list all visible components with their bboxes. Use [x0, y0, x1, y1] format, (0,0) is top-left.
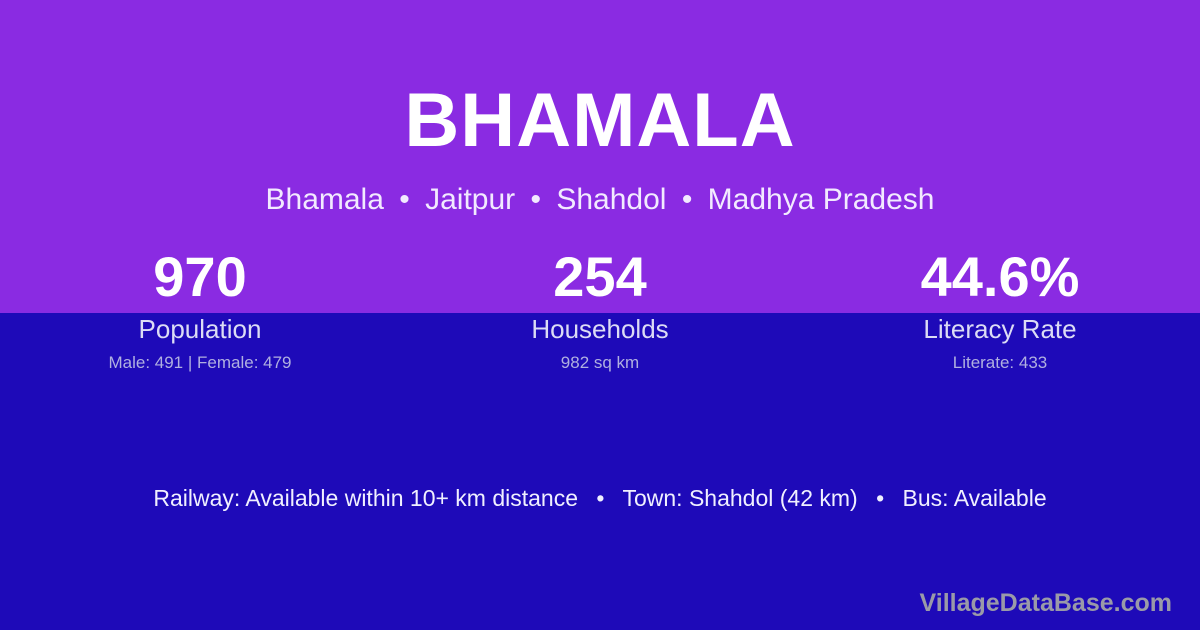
stat-sublabel: Male: 491 | Female: 479 [0, 354, 400, 373]
stats-row: 970 Population Male: 491 | Female: 479 2… [0, 248, 1200, 373]
breadcrumb-separator: • [392, 183, 417, 216]
breadcrumb: Bhamala • Jaitpur • Shahdol • Madhya Pra… [0, 182, 1200, 218]
page-title: BHAMALA [0, 83, 1200, 159]
site-watermark: VillageDataBase.com [920, 588, 1172, 618]
breadcrumb-district: Shahdol [556, 183, 666, 216]
breadcrumb-separator: • [524, 183, 549, 216]
connectivity-town: Town: Shahdol (42 km) [622, 485, 857, 511]
stat-sublabel: Literate: 433 [800, 354, 1200, 373]
breadcrumb-state: Madhya Pradesh [708, 183, 935, 216]
stat-value: 970 [0, 248, 400, 307]
stat-population: 970 Population Male: 491 | Female: 479 [0, 248, 400, 373]
stat-sublabel: 982 sq km [400, 354, 800, 373]
stat-literacy-rate: 44.6% Literacy Rate Literate: 433 [800, 248, 1200, 373]
breadcrumb-block: Jaitpur [425, 183, 515, 216]
breadcrumb-separator: • [675, 183, 700, 216]
connectivity-strip: Railway: Available within 10+ km distanc… [0, 485, 1200, 513]
connectivity-bus: Bus: Available [903, 485, 1047, 511]
connectivity-separator: • [584, 485, 616, 511]
connectivity-railway: Railway: Available within 10+ km distanc… [153, 485, 578, 511]
breadcrumb-village: Bhamala [266, 183, 384, 216]
village-info-card: BHAMALA Bhamala • Jaitpur • Shahdol • Ma… [0, 0, 1200, 630]
stat-label: Population [0, 315, 400, 344]
stat-value: 44.6% [800, 248, 1200, 307]
stat-label: Literacy Rate [800, 315, 1200, 344]
stat-label: Households [400, 315, 800, 344]
connectivity-separator: • [864, 485, 896, 511]
stat-value: 254 [400, 248, 800, 307]
stat-households: 254 Households 982 sq km [400, 248, 800, 373]
